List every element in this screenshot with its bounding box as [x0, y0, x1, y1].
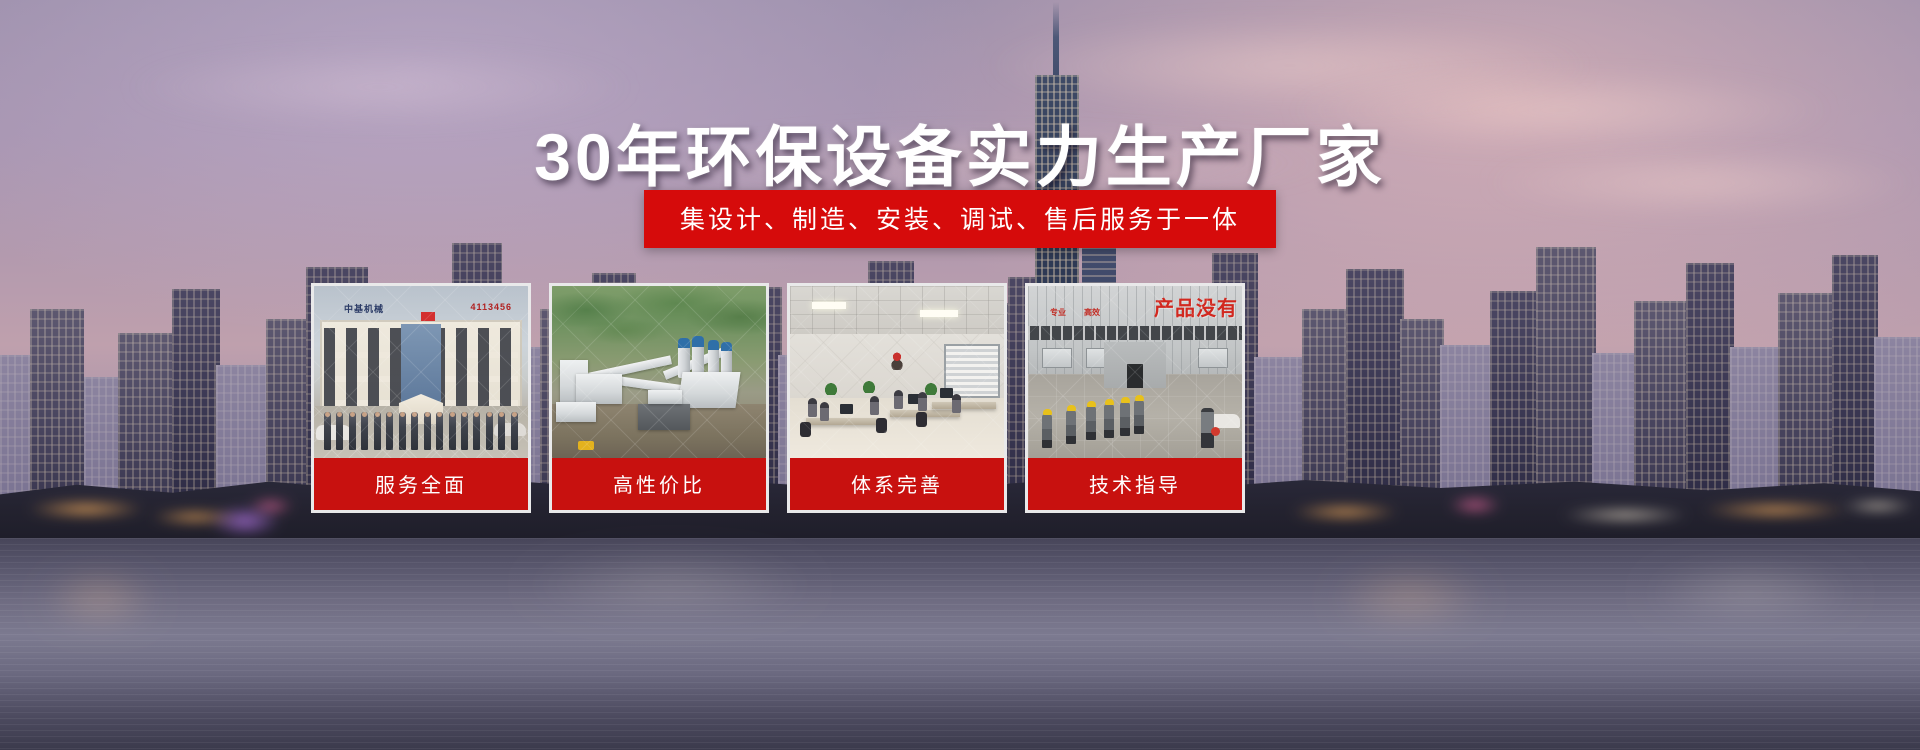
water-reflection	[1330, 566, 1490, 632]
feature-card[interactable]: 产品没有 专业 高效 技术指导	[1025, 283, 1245, 513]
water-reflection	[1640, 560, 1860, 624]
factory-door	[1104, 342, 1166, 388]
river-water	[0, 538, 1920, 750]
city-light-glow	[26, 500, 146, 518]
wall-decal	[884, 348, 910, 370]
feature-card-row: 中基机械 4113456 服务全面	[311, 283, 1245, 513]
office-ceiling	[790, 286, 1004, 334]
office-interior-photo	[787, 283, 1007, 458]
staff-lineup	[324, 412, 518, 452]
feature-card[interactable]: 中基机械 4113456 服务全面	[311, 283, 531, 513]
red-helmet-icon	[1211, 427, 1220, 436]
hero-banner: 30年环保设备实力生产厂家 集设计、制造、安装、调试、售后服务于一体 中基机械 …	[0, 0, 1920, 750]
page-title: 30年环保设备实力生产厂家	[0, 104, 1920, 200]
building-atrium	[401, 324, 441, 402]
factory-workers-photo: 产品没有 专业 高效	[1025, 283, 1245, 458]
parked-truck	[1210, 414, 1240, 428]
feature-card[interactable]: 体系完善	[787, 283, 1007, 513]
flag-icon	[421, 312, 435, 321]
subtitle-bar-wrapper: 集设计、制造、安装、调试、售后服务于一体	[0, 190, 1920, 248]
city-light-glow	[1290, 504, 1400, 520]
feature-card-label: 技术指导	[1025, 458, 1245, 513]
factory-slogan: 高效	[1084, 308, 1100, 317]
city-light-glow	[1840, 500, 1916, 512]
excavator	[578, 441, 594, 450]
building-sign-text: 中基机械	[344, 302, 384, 315]
feature-card-label: 服务全面	[311, 458, 531, 513]
factory-slogan: 专业	[1050, 308, 1066, 317]
city-light-glow	[248, 498, 294, 514]
feature-card[interactable]: 高性价比	[549, 283, 769, 513]
city-light-glow	[1560, 508, 1690, 522]
aerial-plant-photo	[549, 283, 769, 458]
city-light-glow	[1448, 496, 1502, 514]
company-headquarters-photo: 中基机械 4113456	[311, 283, 531, 458]
water-reflection	[40, 570, 160, 630]
building-phone-text: 4113456	[470, 302, 512, 312]
feature-card-label: 体系完善	[787, 458, 1007, 513]
feature-card-label: 高性价比	[549, 458, 769, 513]
subtitle-bar: 集设计、制造、安装、调试、售后服务于一体	[644, 190, 1276, 248]
building-window-band	[1028, 326, 1242, 340]
water-reflection	[520, 550, 820, 620]
city-light-glow	[1700, 502, 1850, 518]
factory-sign-text: 产品没有	[1154, 292, 1238, 321]
